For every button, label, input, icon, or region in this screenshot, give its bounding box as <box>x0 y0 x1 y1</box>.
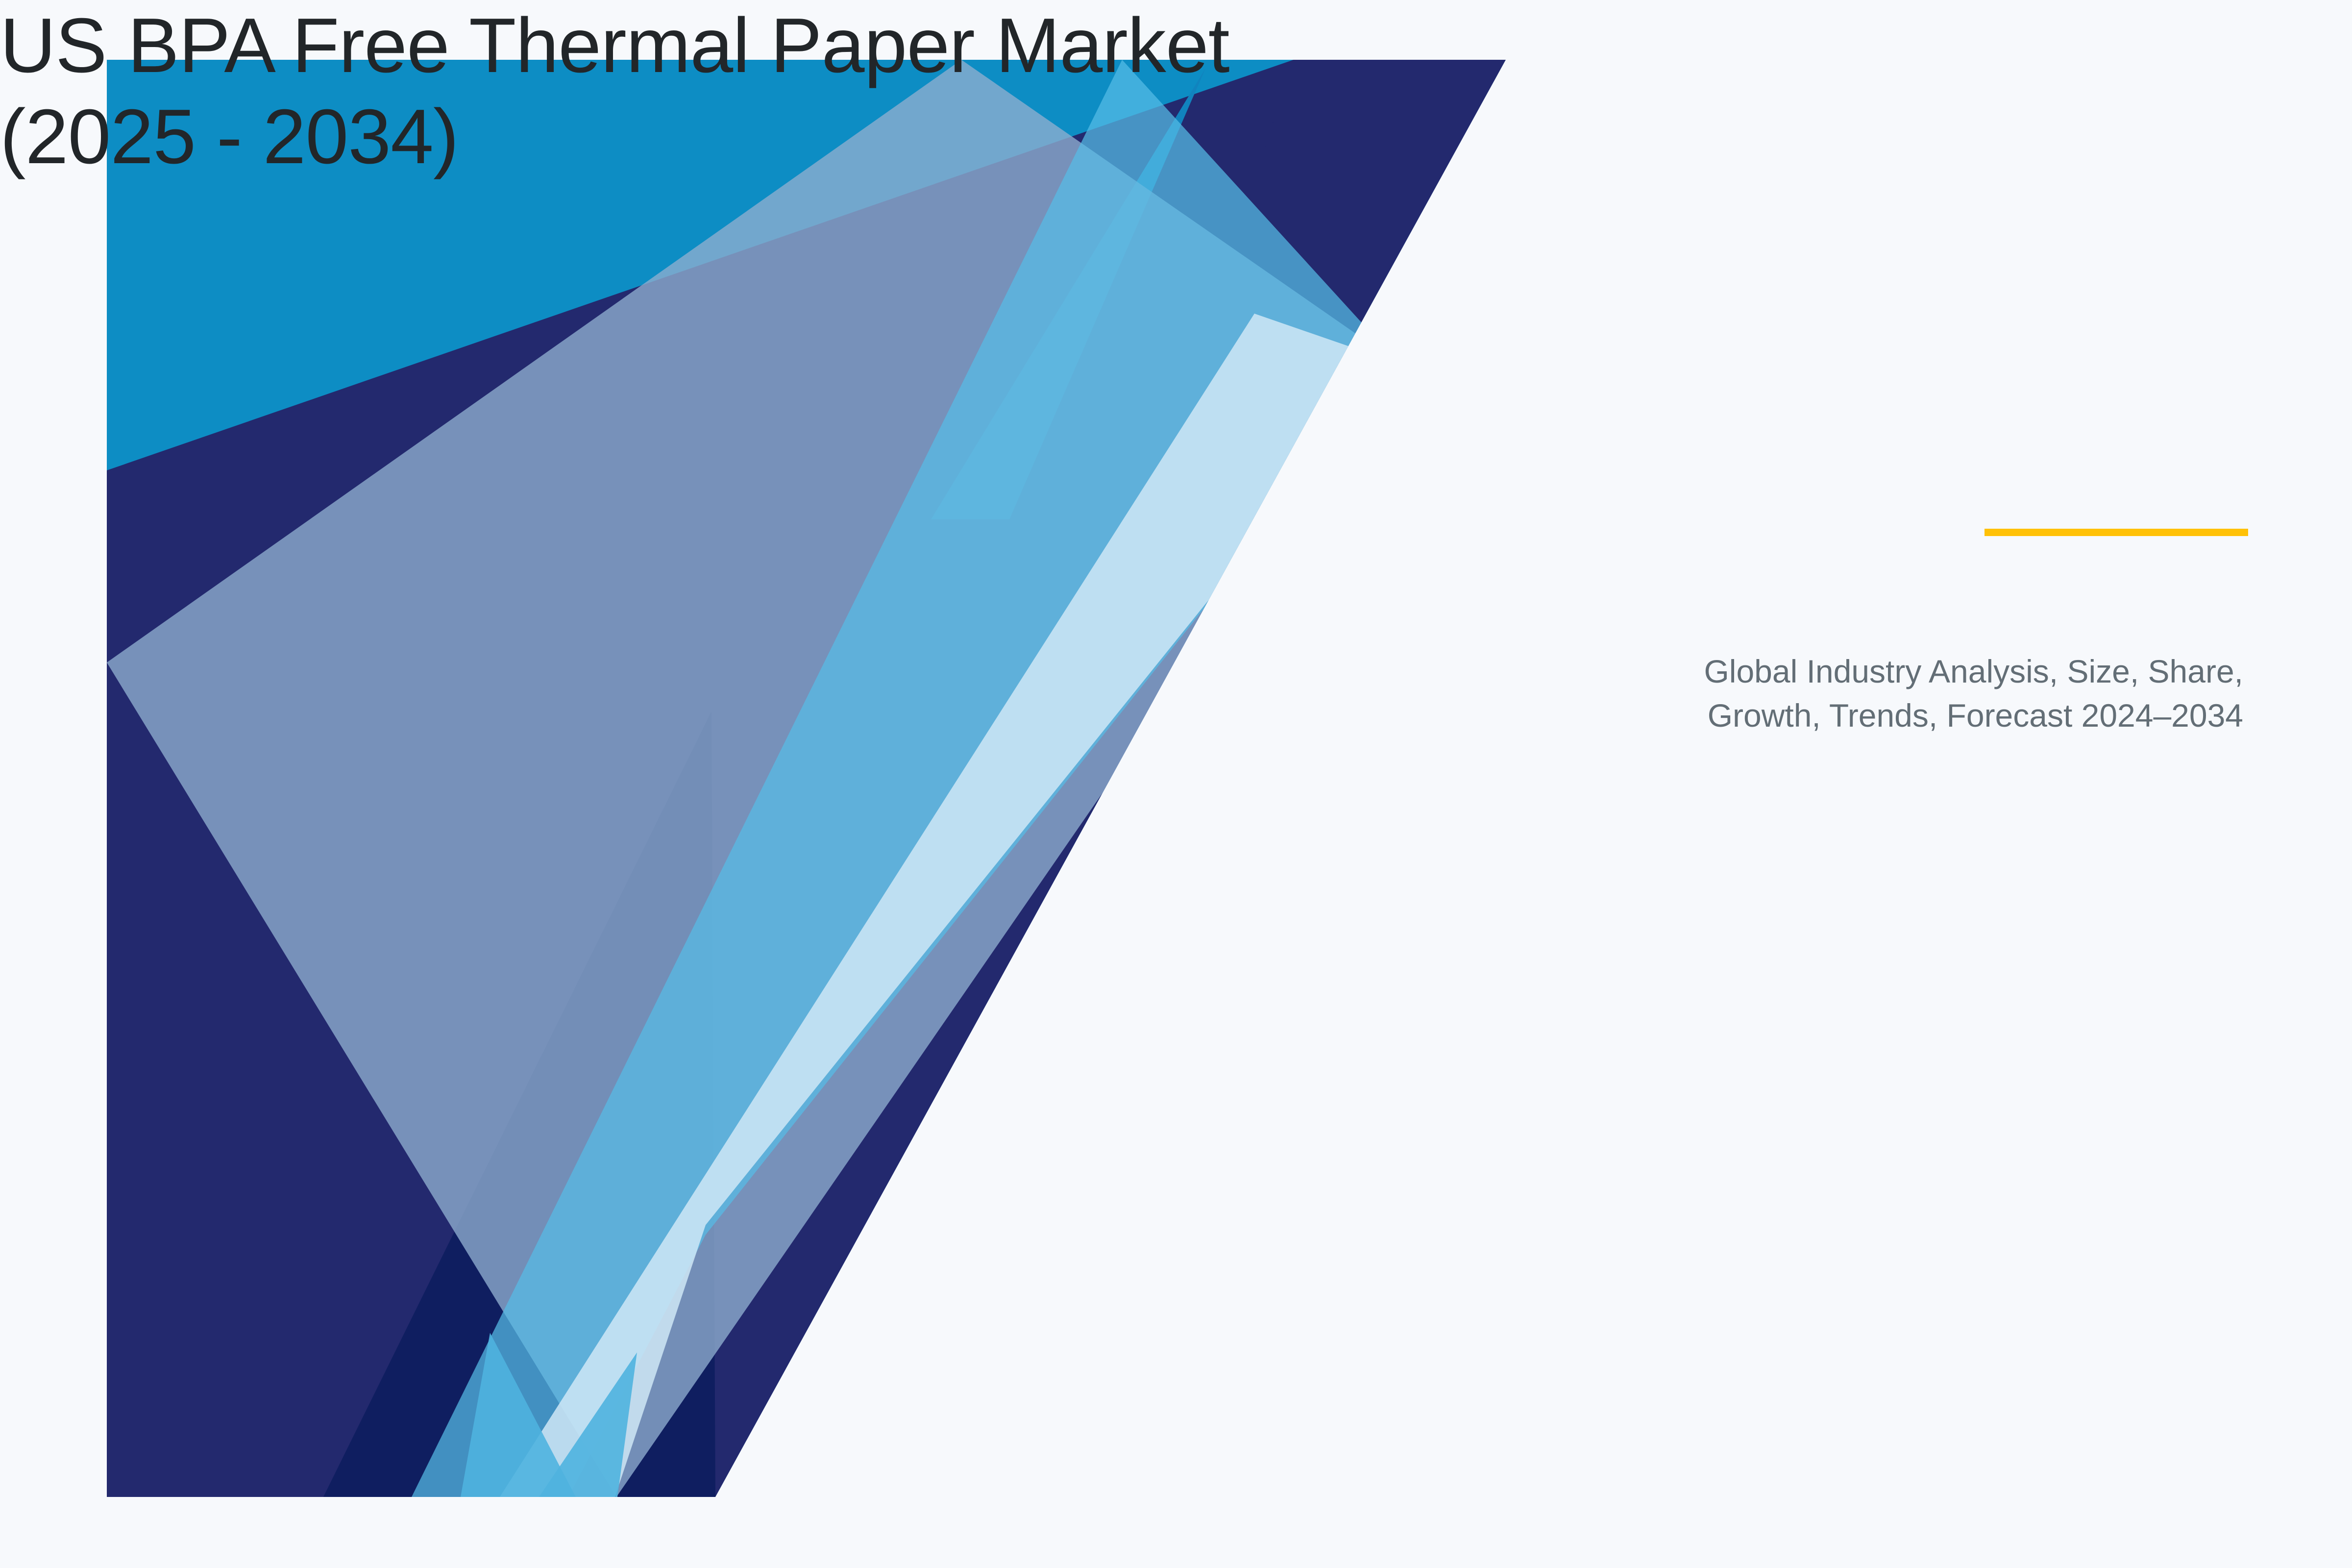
underline-highlight <box>1984 529 2248 536</box>
report-cover: US BPA Free Thermal Paper Market (2025 -… <box>0 0 2352 1568</box>
page-title: US BPA Free Thermal Paper Market (2025 -… <box>0 0 2352 183</box>
abstract-geometric-panel <box>0 0 2352 1568</box>
page-subtitle: Global Industry Analysis, Size, Share, G… <box>1127 649 2243 738</box>
